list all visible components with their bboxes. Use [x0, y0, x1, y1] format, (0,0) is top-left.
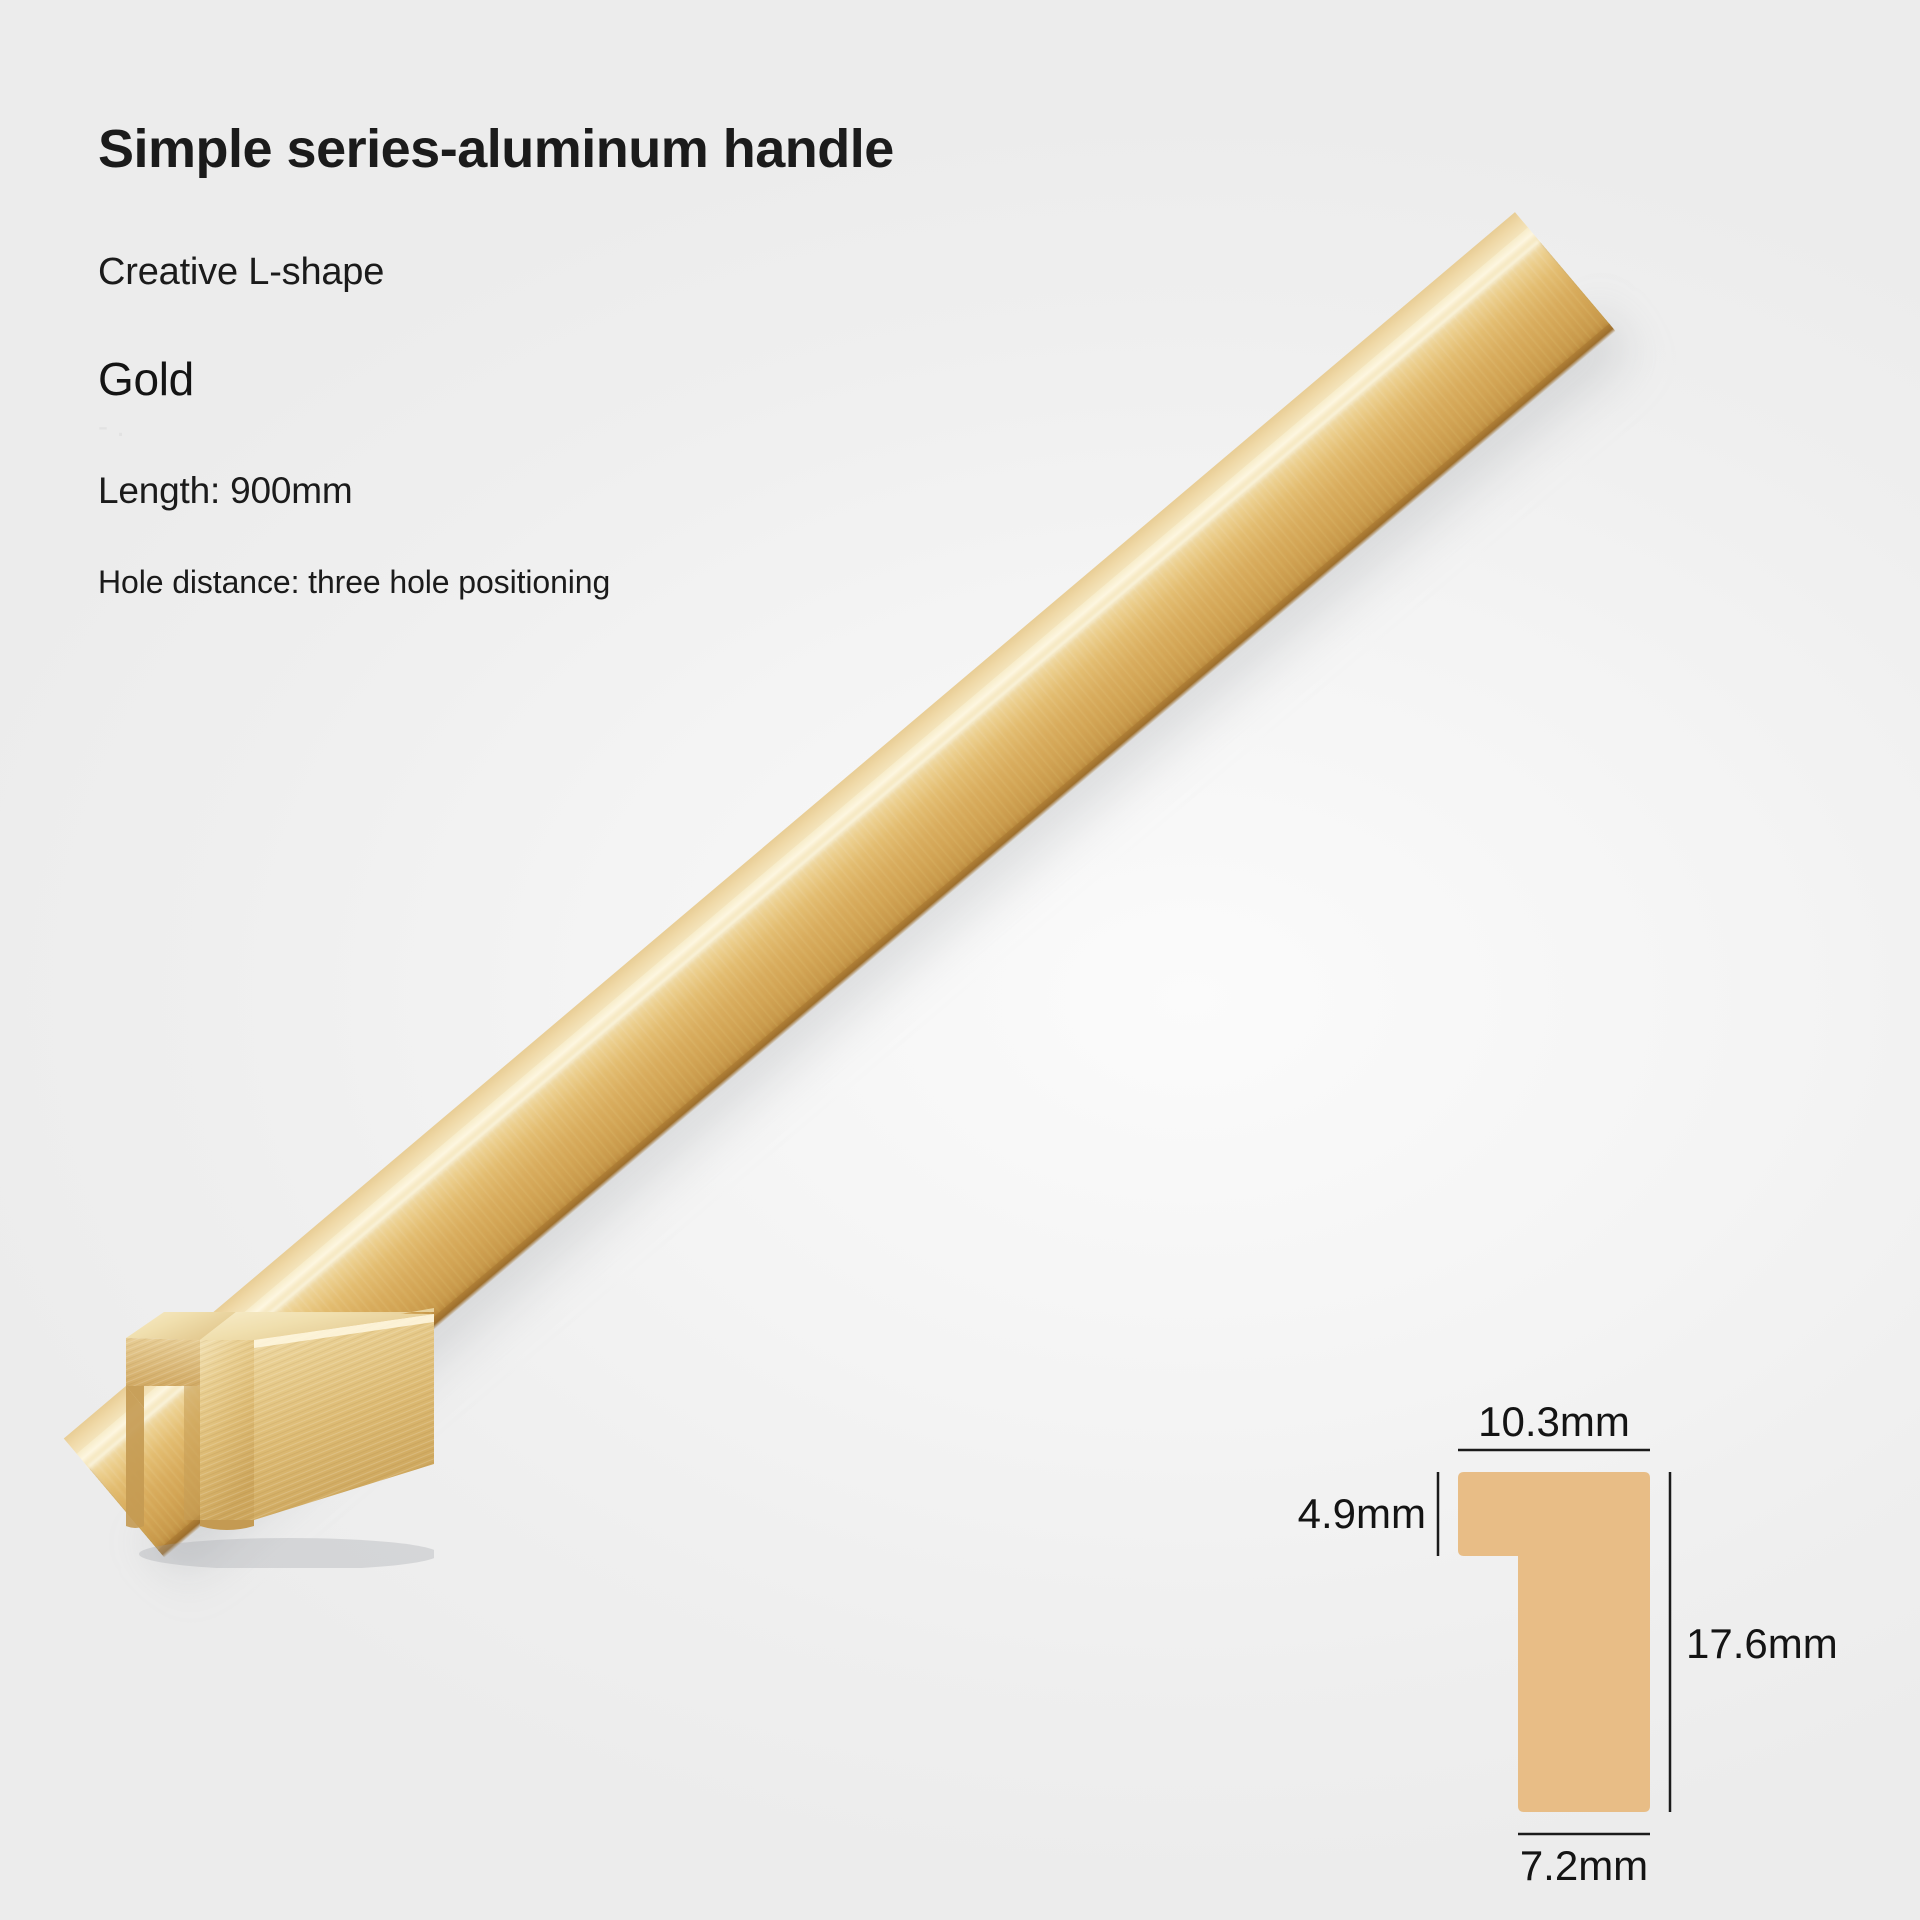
dim-label-top-width: 10.3mm — [1478, 1398, 1630, 1445]
dim-label-total-height: 17.6mm — [1686, 1620, 1838, 1667]
product-color-name: Gold — [98, 352, 1098, 406]
dim-label-lip-height: 4.9mm — [1298, 1490, 1426, 1537]
page-title: Simple series-aluminum handle — [98, 120, 1098, 179]
product-image-canvas: Simple series-aluminum handle Creative L… — [0, 0, 1920, 1920]
product-text-block: Simple series-aluminum handle Creative L… — [98, 120, 1098, 601]
dim-label-bottom-width: 7.2mm — [1520, 1842, 1648, 1889]
profile-shape — [1458, 1472, 1650, 1812]
product-subtitle: Creative L-shape — [98, 251, 1098, 294]
handle-end-cap — [104, 1268, 434, 1568]
clipped-text-fragment: - . — [98, 410, 1098, 436]
product-length: Length: 900mm — [98, 470, 1098, 512]
cross-section-dimension-diagram: 10.3mm 4.9mm 17.6mm 7.2mm — [1240, 1380, 1900, 1910]
product-hole-distance: Hole distance: three hole positioning — [98, 564, 1098, 601]
